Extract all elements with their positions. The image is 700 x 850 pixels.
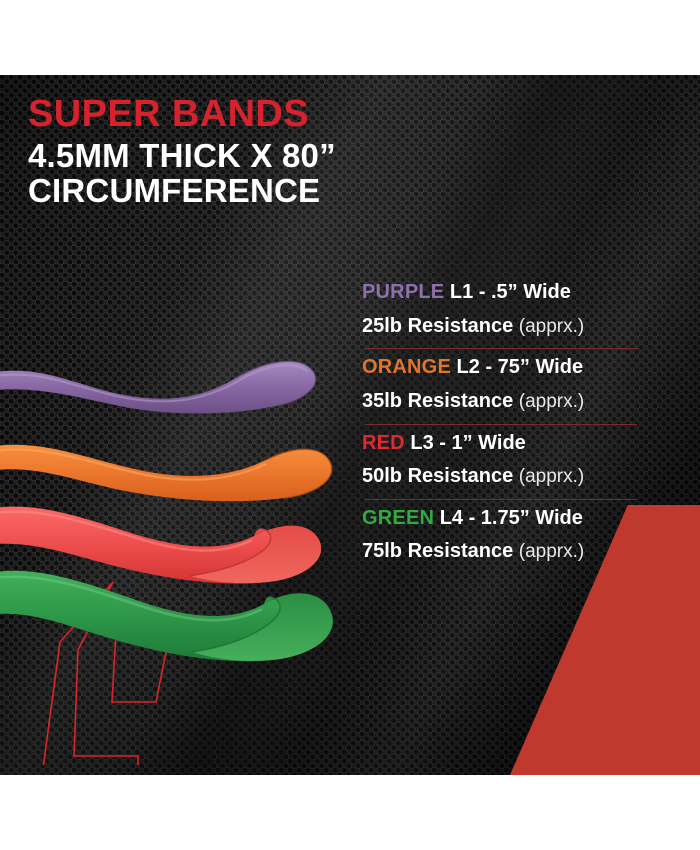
spec-color-name-red: RED [362, 432, 405, 454]
spec-resistance-value-green: 75lb Resistance [362, 540, 513, 562]
spec-title-purple: PURPLE L1 - .5” Wide [362, 280, 662, 306]
page-subtitle-line1: 4.5MM THICK X 80” [28, 138, 336, 174]
title-block: SUPER BANDS 4.5MM THICK X 80” CIRCUMFERE… [28, 95, 336, 209]
spec-level-width-orange: L2 - 75” Wide [457, 356, 584, 378]
spec-divider [365, 499, 637, 500]
spec-color-name-green: GREEN [362, 507, 434, 529]
spec-title-orange: ORANGE L2 - 75” Wide [362, 355, 662, 381]
spec-resistance-green: 75lb Resistance (apprx.) [362, 538, 662, 565]
spec-color-name-purple: PURPLE [362, 281, 444, 303]
spec-resistance-red: 50lb Resistance (apprx.) [362, 463, 662, 490]
spec-divider [365, 348, 637, 349]
spec-divider [365, 424, 637, 425]
spec-resistance-value-orange: 35lb Resistance [362, 390, 513, 412]
spec-approx-green: (apprx.) [519, 541, 584, 562]
spec-approx-red: (apprx.) [519, 466, 584, 487]
spec-approx-orange: (apprx.) [519, 391, 584, 412]
spec-resistance-orange: 35lb Resistance (apprx.) [362, 388, 662, 415]
spec-title-red: RED L3 - 1” Wide [362, 431, 662, 457]
spec-row-red: RED L3 - 1” Wide 50lb Resistance (apprx.… [362, 431, 662, 500]
page-subtitle-line2: CIRCUMFERENCE [28, 173, 336, 209]
spec-row-purple: PURPLE L1 - .5” Wide 25lb Resistance (ap… [362, 280, 662, 349]
spec-resistance-value-red: 50lb Resistance [362, 465, 513, 487]
carbon-fiber-panel: SUPER BANDS 4.5MM THICK X 80” CIRCUMFERE… [0, 75, 700, 775]
spec-resistance-value-purple: 25lb Resistance [362, 315, 513, 337]
spec-row-orange: ORANGE L2 - 75” Wide 35lb Resistance (ap… [362, 355, 662, 424]
infographic-page: SUPER BANDS 4.5MM THICK X 80” CIRCUMFERE… [0, 0, 700, 850]
band-spec-list: PURPLE L1 - .5” Wide 25lb Resistance (ap… [362, 280, 662, 571]
spec-resistance-purple: 25lb Resistance (apprx.) [362, 313, 662, 340]
spec-color-name-orange: ORANGE [362, 356, 451, 378]
spec-row-green: GREEN L4 - 1.75” Wide 75lb Resistance (a… [362, 506, 662, 565]
spec-level-width-green: L4 - 1.75” Wide [440, 507, 583, 529]
spec-approx-purple: (apprx.) [519, 316, 584, 337]
spec-level-width-purple: L1 - .5” Wide [450, 281, 571, 303]
page-title: SUPER BANDS [28, 95, 336, 134]
spec-level-width-red: L3 - 1” Wide [410, 432, 525, 454]
spec-title-green: GREEN L4 - 1.75” Wide [362, 506, 662, 532]
